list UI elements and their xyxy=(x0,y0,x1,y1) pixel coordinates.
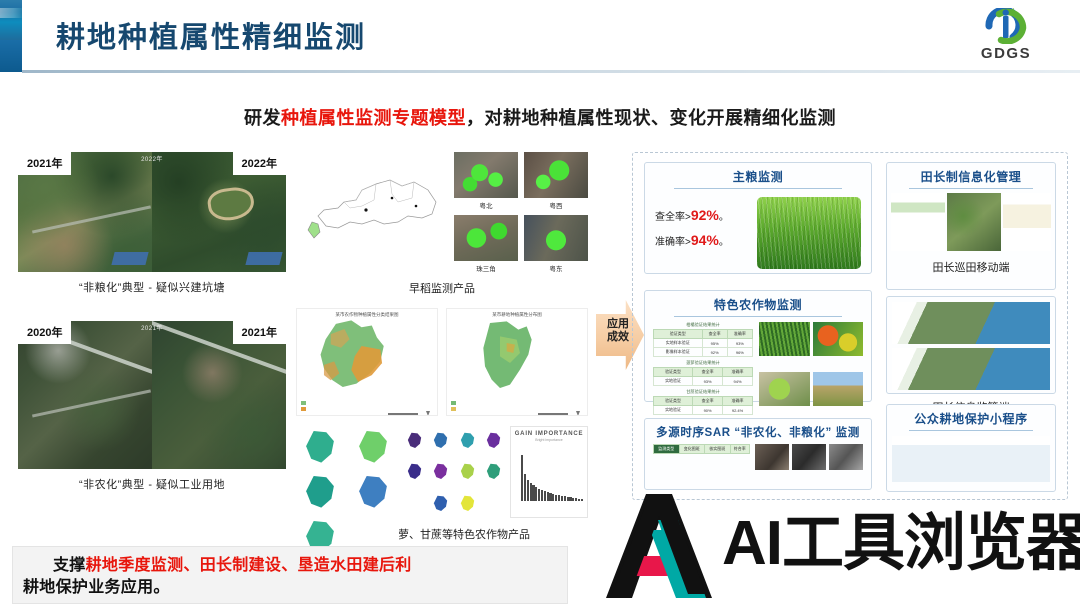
th: 符合率 xyxy=(730,445,750,454)
field-app-caption: 田长巡田移动端 xyxy=(887,255,1055,275)
rice-tile-image xyxy=(524,152,588,198)
year-label-right: 2022年 xyxy=(233,152,286,175)
app-home-screenshot xyxy=(891,193,945,251)
regional-map-1: 某市农作物种植属性分类结果图 xyxy=(296,308,438,416)
summary-prefix: 支撑 xyxy=(53,557,86,574)
watermark-text: AI工具浏览器 xyxy=(722,513,1080,575)
rice-field-photo xyxy=(757,197,861,269)
th: 准确率 xyxy=(723,368,753,377)
th: 验证类型 xyxy=(654,397,693,406)
rice-tile-image xyxy=(454,152,518,198)
regional-maps-row: 某市农作物种植属性分类结果图 某市耕地种植属性分布图 xyxy=(296,308,588,416)
td: 实地验证 xyxy=(654,406,693,415)
road-overlay-secondary xyxy=(32,390,151,418)
regional-map-2: 某市耕地种植属性分布图 xyxy=(446,308,588,416)
crop-charts-row: GAIN IMPORTANCE Bright importance xyxy=(296,426,588,518)
mini-program-screenshots xyxy=(887,431,1055,487)
rice-tile-image xyxy=(524,215,588,261)
letter-a-logo-icon xyxy=(606,490,712,598)
th: 准确率 xyxy=(723,397,753,406)
water-overlay xyxy=(245,252,282,265)
crop-minimap xyxy=(349,426,400,469)
td: 实地验证 xyxy=(654,377,693,386)
crop-table-heading: 甘蔗验证结果统计 xyxy=(653,389,753,395)
td: 95% xyxy=(702,339,727,348)
rice-region-tiles: 粤北 粤西 珠三角 粤东 xyxy=(454,152,588,274)
rice-tile-label: 粤东 xyxy=(524,263,588,273)
summary-line-1: 支撑耕地季度监测、田长制建设、垦造水田建后利 xyxy=(23,555,557,577)
field-app-screenshots xyxy=(887,189,1055,255)
arrow-label-line1: 应用 xyxy=(600,318,636,331)
year-label-left: 2021年 xyxy=(18,152,71,175)
map-legend xyxy=(451,399,473,411)
left-column: 2021年 2022年 2022年 “非粮化”典型 - 疑似兴建坑塘 2020年… xyxy=(18,152,288,492)
table-row: 实地样本验证 95% 93% xyxy=(654,339,753,348)
stat-accuracy-value: 94% xyxy=(691,232,719,248)
rice-tile-label: 珠三角 xyxy=(454,263,518,273)
tile-item: 粤西 xyxy=(524,152,588,211)
image-pair-2: 2020年 2021年 2021年 “非农化”典型 - 疑似工业用地 xyxy=(18,321,286,492)
td: 92.4% xyxy=(723,406,753,415)
crop-minimap xyxy=(403,426,427,455)
citrus-orchard-photo xyxy=(813,372,864,406)
subtitle-highlight: 种植属性监测专题模型 xyxy=(281,108,466,128)
td: 96% xyxy=(727,348,752,357)
card-field-chief-management[interactable]: 田长制信息化管理 田长巡田移动端 xyxy=(886,162,1056,290)
stat-recall-label: 查全率> xyxy=(655,212,691,223)
crop-table-block: 柑橘验证结果统计 验证类型 查全率 准确率 实地样本验证 95% 93% xyxy=(653,322,753,357)
td: 实地样本验证 xyxy=(654,339,703,348)
summary-line-2: 耕地保护业务应用。 xyxy=(23,577,557,599)
arrow-label-line2: 成效 xyxy=(600,331,636,344)
water-overlay xyxy=(111,252,148,265)
table-row: 影像样本验证 92% 96% xyxy=(654,348,753,357)
crop-minimap xyxy=(349,471,400,514)
card-special-crop-monitoring[interactable]: 特色农作物监测 柑橘验证结果统计 验证类型 查全率 准确率 实地样本验证 95% xyxy=(644,290,872,402)
td: 92% xyxy=(702,348,727,357)
tile-item: 粤北 xyxy=(454,152,518,211)
td: 93% xyxy=(727,339,752,348)
th: 准确率 xyxy=(727,330,752,339)
image-pair-2-images: 2020年 2021年 2021年 xyxy=(18,321,286,469)
header-coastal-photo xyxy=(0,0,22,40)
card-public-mini-program[interactable]: 公众耕地保护小程序 xyxy=(886,404,1056,492)
stat-accuracy: 准确率>94%。 xyxy=(655,232,749,248)
crop-table-block: 菠萝验证结果统计 验证类型 查全率 准确率 实地验证 93% 94% xyxy=(653,360,753,386)
card-sar-monitoring[interactable]: 多源时序SAR “非农化、非粮化” 监测 监测类型 变化图斑 核实图斑 符合率 xyxy=(644,418,872,490)
card-sar-body: 监测类型 变化图斑 核实图斑 符合率 xyxy=(645,440,871,470)
classification-map-photo xyxy=(813,322,864,356)
th: 核实图斑 xyxy=(705,445,731,454)
map-scale-bar xyxy=(538,404,582,410)
sar-image-strip xyxy=(755,444,863,470)
crop-minimap-empty xyxy=(403,489,427,518)
rice-tile-label: 粤西 xyxy=(524,200,588,210)
table-header-row: 验证类型 查全率 准确率 xyxy=(654,368,753,377)
rice-row: 粤北 粤西 珠三角 粤东 xyxy=(296,152,588,274)
gain-importance-chart: GAIN IMPORTANCE Bright importance xyxy=(510,426,588,518)
sar-table: 监测类型 变化图斑 核实图斑 符合率 xyxy=(653,444,750,470)
supervision-screenshots xyxy=(887,297,1055,395)
image-watermark: 2021年 xyxy=(141,323,163,332)
image-pair-2-caption: “非农化”典型 - 疑似工业用地 xyxy=(18,476,286,492)
td: 94% xyxy=(723,377,753,386)
map-legend xyxy=(301,399,323,411)
image-pair-1-caption: “非粮化”典型 - 疑似兴建坑塘 xyxy=(18,279,286,295)
summary-callout-bar: 支撑耕地季度监测、田长制建设、垦造水田建后利 耕地保护业务应用。 xyxy=(12,546,568,604)
th: 查全率 xyxy=(702,330,727,339)
crop-validation-tables: 柑橘验证结果统计 验证类型 查全率 准确率 实地样本验证 95% 93% xyxy=(653,322,753,418)
table-row: 实地验证 93% 94% xyxy=(654,377,753,386)
crop-minimap xyxy=(296,426,347,469)
gain-chart-title: GAIN IMPORTANCE xyxy=(511,431,587,437)
crop-photo-grid xyxy=(759,322,863,418)
year-label-right: 2021年 xyxy=(233,321,286,344)
rice-monitoring-block: 粤北 粤西 珠三角 粤东 早稻监测产品 xyxy=(296,152,588,296)
rice-tile-label: 粤北 xyxy=(454,200,518,210)
sar-mini-table: 监测类型 变化图斑 核实图斑 符合率 xyxy=(653,444,750,454)
regional-map-2-shape xyxy=(455,317,555,399)
gain-chart-bars xyxy=(521,455,583,501)
card-grain-title: 主粮监测 xyxy=(645,163,871,185)
regional-map-1-shape xyxy=(301,317,405,399)
pineapple-field-photo xyxy=(759,372,810,406)
th: 验证类型 xyxy=(654,368,693,377)
crop-table-block: 甘蔗验证结果统计 验证类型 查全率 准确率 实地验证 90% 92.4% xyxy=(653,389,753,415)
table-row: 实地验证 90% 92.4% xyxy=(654,406,753,415)
sar-image xyxy=(755,444,789,470)
image-watermark: 2022年 xyxy=(141,154,163,163)
summary-highlight: 耕地季度监测、田长制建设、垦造水田建后利 xyxy=(86,557,412,574)
road-overlay xyxy=(32,205,151,233)
arrow-label: 应用 成效 xyxy=(600,318,636,343)
rice-tile-image xyxy=(454,215,518,261)
table-header-row: 验证类型 查全率 准确率 xyxy=(654,330,753,339)
td: 影像样本验证 xyxy=(654,348,703,357)
brand-logo: GDGS xyxy=(958,8,1054,66)
supervision-map-screenshot-2 xyxy=(892,348,1050,390)
card-mini-title: 公众耕地保护小程序 xyxy=(887,405,1055,427)
card-crop-title: 特色农作物监测 xyxy=(645,291,871,313)
sar-image xyxy=(792,444,826,470)
crop-minimap xyxy=(403,457,427,486)
app-form-screenshot xyxy=(1003,193,1051,251)
header-divider xyxy=(22,70,1080,73)
th: 监测类型 xyxy=(654,445,680,454)
crop-minimap-empty xyxy=(482,489,506,518)
card-grain-monitoring[interactable]: 主粮监测 查全率>92%。 准确率>94%。 xyxy=(644,162,872,274)
map-scale-bar xyxy=(388,404,432,410)
supervision-map-screenshot-1 xyxy=(892,302,1050,344)
page-title: 耕地种植属性精细监测 xyxy=(56,14,366,56)
table-header-row: 验证类型 查全率 准确率 xyxy=(654,397,753,406)
crop-minimap xyxy=(482,426,506,455)
slide-subtitle: 研发种植属性监测专题模型，对耕地种植属性现状、变化开展精细化监测 xyxy=(0,104,1080,130)
gdgs-emblem-icon xyxy=(983,8,1029,44)
mini-program-screenshot xyxy=(892,436,1050,482)
stat-accuracy-suffix: 。 xyxy=(719,237,729,248)
th: 变化图斑 xyxy=(679,445,705,454)
th: 查全率 xyxy=(693,397,723,406)
image-pair-1-images: 2021年 2022年 2022年 xyxy=(18,152,286,272)
card-field-chief-supervision[interactable]: 田长信息监管端 xyxy=(886,296,1056,394)
crop-minimap xyxy=(296,471,347,514)
crop-minimap xyxy=(456,426,480,455)
th: 验证类型 xyxy=(654,330,703,339)
table-header-row: 监测类型 变化图斑 核实图斑 符合率 xyxy=(654,445,750,454)
stat-recall-suffix: 。 xyxy=(719,212,729,223)
stat-recall: 查全率>92%。 xyxy=(655,207,749,223)
tile-item: 珠三角 xyxy=(454,215,518,274)
crop-minimap xyxy=(456,457,480,486)
tile-item: 粤东 xyxy=(524,215,588,274)
crop-table: 验证类型 查全率 准确率 实地验证 93% 94% xyxy=(653,367,753,386)
crop-minimap xyxy=(429,426,453,455)
logo-text: GDGS xyxy=(958,45,1054,62)
stat-recall-value: 92% xyxy=(691,207,719,223)
crop-table: 验证类型 查全率 准确率 实地样本验证 95% 93% 影像样本验证 92% xyxy=(653,329,753,357)
crop-table: 验证类型 查全率 准确率 实地验证 90% 92.4% xyxy=(653,396,753,415)
image-pair-1: 2021年 2022年 2022年 “非粮化”典型 - 疑似兴建坑塘 xyxy=(18,152,286,295)
grain-stats-list: 查全率>92%。 准确率>94%。 xyxy=(655,197,749,269)
crop-minimap xyxy=(482,457,506,486)
rice-caption: 早稻监测产品 xyxy=(296,280,588,296)
subtitle-suffix: ，对耕地种植属性现状、变化开展精细化监测 xyxy=(466,108,836,128)
guangdong-province-map xyxy=(296,152,448,274)
card-grain-body: 查全率>92%。 准确率>94%。 xyxy=(645,189,871,269)
td: 93% xyxy=(693,377,723,386)
pond-annotation xyxy=(206,185,256,223)
subtitle-prefix: 研发 xyxy=(244,108,281,128)
middle-column: 粤北 粤西 珠三角 粤东 早稻监测产品 xyxy=(296,152,588,542)
watermark-overlay: AI工具浏览器 xyxy=(606,484,1076,604)
slide-header: 耕地种植属性精细监测 GDGS xyxy=(0,0,1080,72)
sar-image xyxy=(829,444,863,470)
td: 90% xyxy=(693,406,723,415)
crop-map-grid-a xyxy=(296,426,399,518)
card-sar-title: 多源时序SAR “非农化、非粮化” 监测 xyxy=(645,419,871,440)
crop-table-heading: 菠萝验证结果统计 xyxy=(653,360,753,366)
stat-accuracy-label: 准确率> xyxy=(655,237,691,248)
sugarcane-photo xyxy=(759,322,810,356)
card-crop-body: 柑橘验证结果统计 验证类型 查全率 准确率 实地样本验证 95% 93% xyxy=(645,317,871,418)
header-accent-bar xyxy=(0,0,22,72)
crop-minimap xyxy=(429,489,453,518)
card-field-title: 田长制信息化管理 xyxy=(887,163,1055,185)
gain-chart-subtitle: Bright importance xyxy=(511,438,587,442)
slide-root: 耕地种植属性精细监测 GDGS 研发种植属性监测专题模型，对耕地种植属性现状、变… xyxy=(0,0,1080,608)
app-map-screenshot xyxy=(947,193,1001,251)
crop-map-grid-b xyxy=(403,426,506,518)
province-outline-icon xyxy=(304,166,442,258)
crop-minimap xyxy=(456,489,480,518)
th: 查全率 xyxy=(693,368,723,377)
crop-table-heading: 柑橘验证结果统计 xyxy=(653,322,753,328)
crop-minimap xyxy=(429,457,453,486)
year-label-left: 2020年 xyxy=(18,321,71,344)
